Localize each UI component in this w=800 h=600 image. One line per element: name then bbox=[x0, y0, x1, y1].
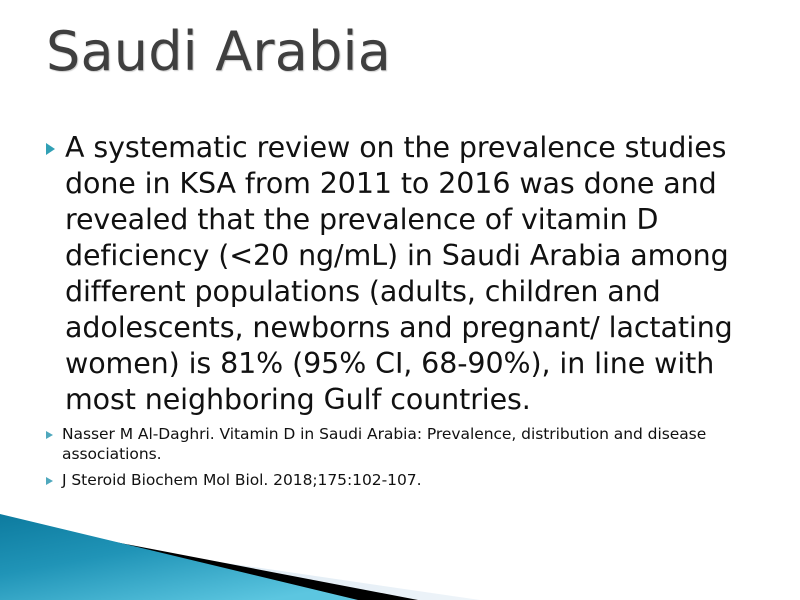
slide-canvas: Saudi Arabia A systematic review on the … bbox=[0, 0, 800, 600]
triangle-bullet-icon bbox=[46, 477, 53, 485]
triangle-bullet-icon bbox=[46, 143, 55, 155]
list-item: Nasser M Al-Daghri. Vitamin D in Saudi A… bbox=[46, 424, 762, 464]
diagonal-footer-band bbox=[0, 490, 800, 600]
teal-wedge bbox=[0, 514, 358, 600]
list-item-label: Nasser M Al-Daghri. Vitamin D in Saudi A… bbox=[62, 424, 762, 464]
pale-blue-wedge bbox=[0, 530, 480, 600]
triangle-bullet-icon bbox=[46, 431, 53, 439]
list-item: J Steroid Biochem Mol Biol. 2018;175:102… bbox=[46, 470, 762, 490]
black-stripe bbox=[0, 520, 418, 600]
list-item-label: J Steroid Biochem Mol Biol. 2018;175:102… bbox=[62, 470, 421, 490]
slide-body: A systematic review on the prevalence st… bbox=[46, 130, 762, 490]
page-title: Saudi Arabia bbox=[46, 22, 746, 81]
list-item: A systematic review on the prevalence st… bbox=[46, 130, 762, 418]
list-item-label: A systematic review on the prevalence st… bbox=[65, 130, 762, 418]
